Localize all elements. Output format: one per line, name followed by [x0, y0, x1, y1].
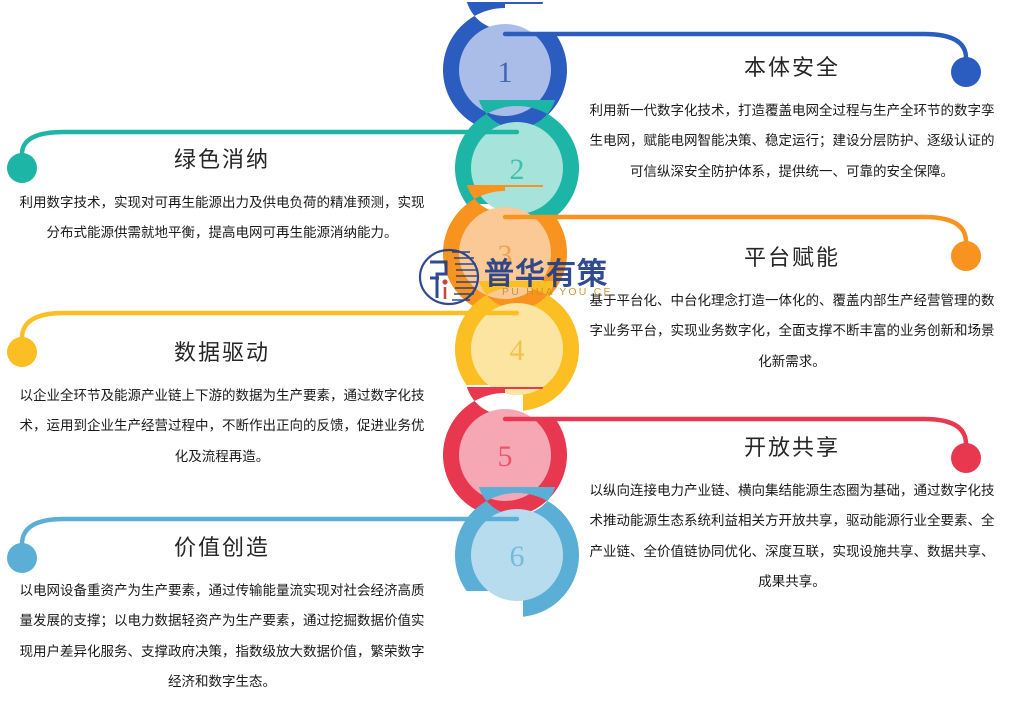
step-title-1: 本体安全 [588, 50, 996, 82]
step-body-6: 以电网设备重资产为生产要素，通过传输能量流实现对社会经济高质量发展的支撑；以电力… [18, 576, 426, 698]
step-title-5: 开放共享 [588, 430, 996, 462]
step-body-3: 基于平台化、中台化理念打造一体化的、覆盖内部生产经营管理的数字业务平台，实现业务… [588, 286, 996, 377]
step-block-6: 价值创造 以电网设备重资产为生产要素，通过传输能量流实现对社会经济高质量发展的支… [18, 530, 426, 698]
step-inner-circle-2 [471, 122, 563, 214]
step-title-3: 平台赋能 [588, 240, 996, 272]
infographic-canvas: 1 2 3 4 5 6 本体安全 利用新一代数字化技术，打造覆盖电网全过程与生产… [0, 0, 1014, 720]
step-body-5: 以纵向连接电力产业链、横向集结能源生态圈为基础，通过数字化技术推动能源生态系统利… [588, 476, 996, 598]
step-inner-circle-4 [471, 303, 563, 395]
step-title-6: 价值创造 [18, 530, 426, 562]
step-body-4: 以企业全环节及能源产业链上下游的数据为生产要素，通过数字化技术，运用到企业生产经… [18, 381, 426, 472]
step-title-2: 绿色消纳 [18, 142, 426, 174]
connector-line-3 [505, 217, 966, 242]
step-body-2: 利用数字技术，实现对可再生能源出力及供电负荷的精准预测，实现分布式能源供需就地平… [18, 188, 426, 249]
step-block-4: 数据驱动 以企业全环节及能源产业链上下游的数据为生产要素，通过数字化技术，运用到… [18, 335, 426, 472]
step-body-1: 利用新一代数字化技术，打造覆盖电网全过程与生产全环节的数字孪生电网，赋能电网智能… [588, 96, 996, 187]
step-block-1: 本体安全 利用新一代数字化技术，打造覆盖电网全过程与生产全环节的数字孪生电网，赋… [588, 50, 996, 187]
step-block-3: 平台赋能 基于平台化、中台化理念打造一体化的、覆盖内部生产经营管理的数字业务平台… [588, 240, 996, 377]
step-title-4: 数据驱动 [18, 335, 426, 367]
step-block-2: 绿色消纳 利用数字技术，实现对可再生能源出力及供电负荷的精准预测，实现分布式能源… [18, 142, 426, 249]
step-block-5: 开放共享 以纵向连接电力产业链、横向集结能源生态圈为基础，通过数字化技术推动能源… [588, 430, 996, 598]
step-inner-circle-6 [471, 509, 563, 601]
